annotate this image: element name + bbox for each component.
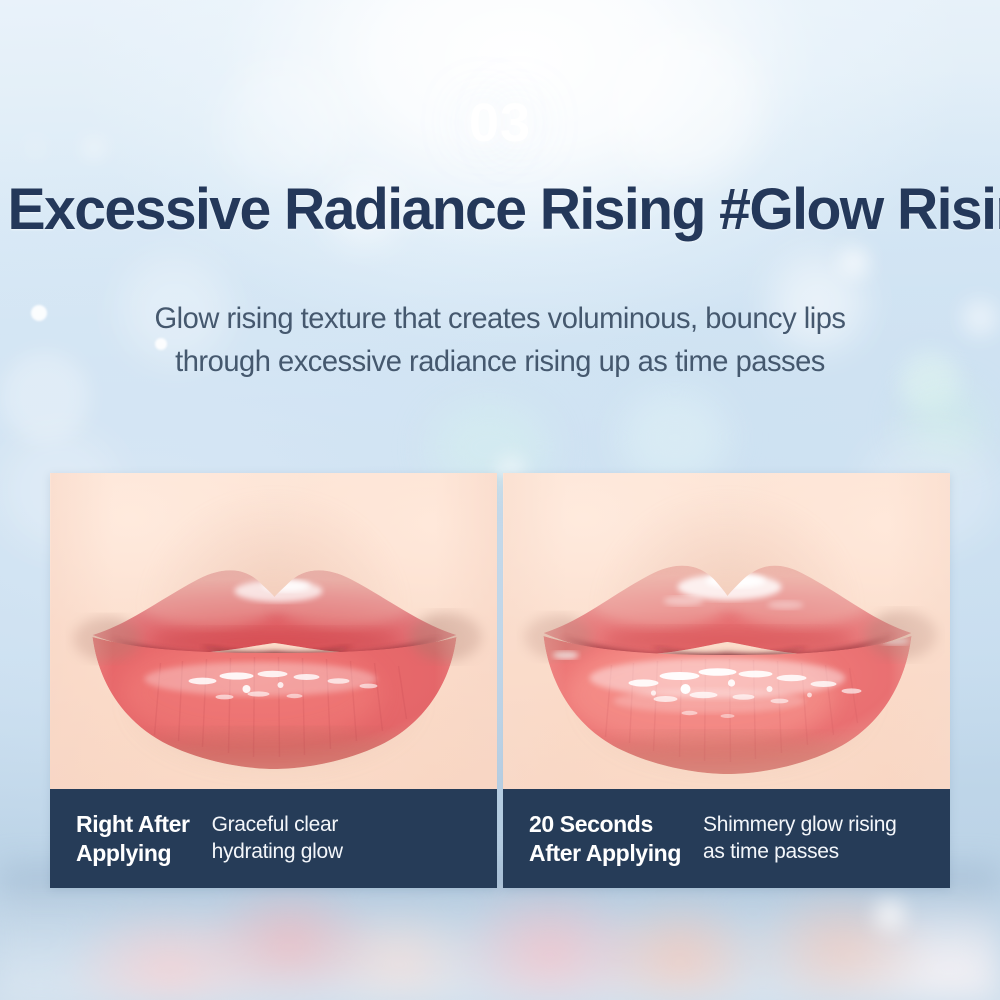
lips-photo-20-seconds-after-applying [503, 473, 950, 789]
caption-desc-line-1: Graceful clear [212, 812, 343, 838]
comparison-card-right-after-applying: Right After Applying Graceful clear hydr… [50, 473, 497, 888]
caption-description: Shimmery glow rising as time passes [703, 812, 897, 865]
subtitle-line-1: Glow rising texture that creates volumin… [15, 298, 985, 341]
page-content: 03 Excessive Radiance Rising #Glow Risin… [0, 0, 1000, 1000]
card-caption: 20 Seconds After Applying Shimmery glow … [503, 789, 950, 888]
lips-illustration [503, 473, 950, 789]
caption-description: Graceful clear hydrating glow [212, 812, 343, 865]
caption-desc-line-2: hydrating glow [212, 839, 343, 865]
caption-title: 20 Seconds After Applying [529, 810, 681, 868]
caption-title-line-2: Applying [76, 839, 190, 868]
subtitle-line-2: through excessive radiance rising up as … [15, 341, 985, 384]
caption-title-line-2: After Applying [529, 839, 681, 868]
comparison-card-20-seconds-after-applying: 20 Seconds After Applying Shimmery glow … [503, 473, 950, 888]
lips-photo-right-after-applying [50, 473, 497, 789]
caption-desc-line-1: Shimmery glow rising [703, 812, 897, 838]
page-title: Excessive Radiance Rising #Glow Rising [8, 176, 993, 243]
page-subtitle: Glow rising texture that creates volumin… [0, 298, 1000, 383]
caption-desc-line-2: as time passes [703, 839, 897, 865]
step-number: 03 [0, 92, 1000, 154]
comparison-cards: Right After Applying Graceful clear hydr… [50, 473, 950, 888]
card-caption: Right After Applying Graceful clear hydr… [50, 789, 497, 888]
caption-title: Right After Applying [76, 810, 190, 868]
lips-illustration [50, 473, 497, 789]
caption-title-line-1: Right After [76, 810, 190, 839]
caption-title-line-1: 20 Seconds [529, 810, 681, 839]
